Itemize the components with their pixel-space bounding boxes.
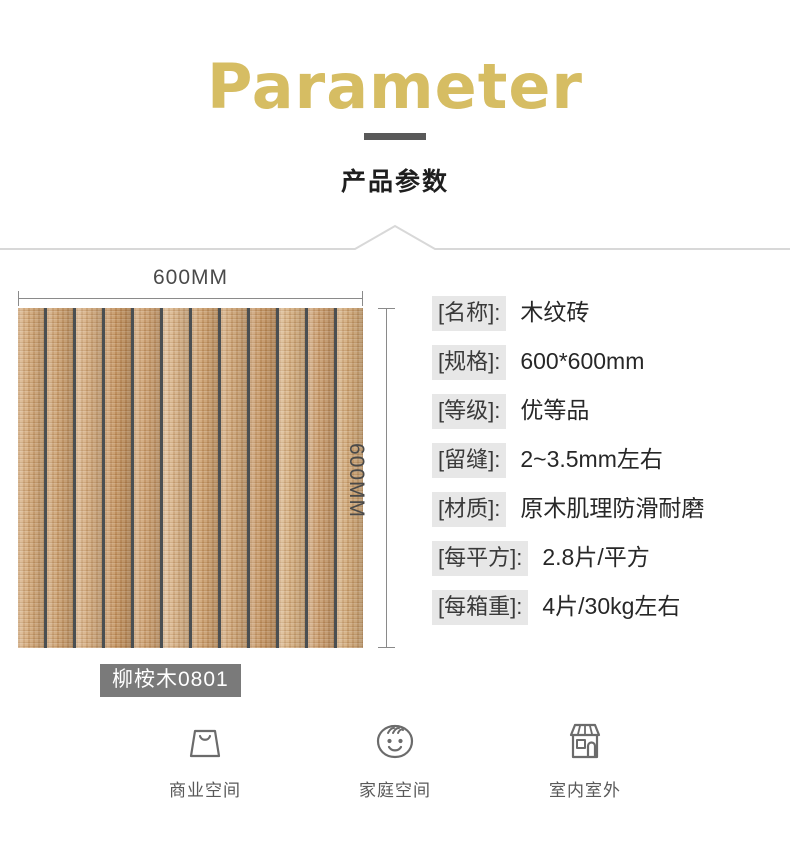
page-subtitle: 产品参数: [0, 170, 790, 195]
child-face-icon: [369, 716, 421, 766]
section-chevron-divider: [0, 222, 790, 258]
spec-label: [每箱重]:: [432, 590, 528, 625]
usage-item: 室内室外: [533, 716, 638, 801]
spec-value: 2~3.5mm左右: [520, 444, 663, 475]
spec-row: [每箱重]:4片/30kg左右: [432, 590, 782, 639]
spec-label: [名称]:: [432, 296, 506, 331]
tile-width-dimension-label: 600MM: [18, 266, 363, 290]
tile-plank: [221, 308, 250, 648]
storefront-icon: [559, 716, 611, 766]
tile-plank: [250, 308, 279, 648]
usage-label: 家庭空间: [359, 776, 431, 801]
tile-plank: [105, 308, 134, 648]
tile-plank: [192, 308, 221, 648]
spec-label: [规格]:: [432, 345, 506, 380]
spec-value: 优等品: [520, 395, 589, 426]
tile-plank: [163, 308, 192, 648]
product-tile-image: [18, 308, 363, 648]
tile-height-dimension-line: [386, 308, 387, 648]
tile-plank: [134, 308, 163, 648]
tile-plank: [47, 308, 76, 648]
spec-label: [材质]:: [432, 492, 506, 527]
product-image-block: 600MM 600MM 柳桉木0801: [0, 258, 410, 698]
spec-row: [名称]:木纹砖: [432, 296, 782, 345]
spec-label: [留缝]:: [432, 443, 506, 478]
spec-row: [材质]:原木肌理防滑耐磨: [432, 492, 782, 541]
spec-row: [留缝]:2~3.5mm左右: [432, 443, 782, 492]
spec-row: [每平方]:2.8片/平方: [432, 541, 782, 590]
page-title: Parameter: [0, 56, 790, 118]
usage-item: 家庭空间: [343, 716, 448, 801]
spec-value: 2.8片/平方: [542, 542, 649, 573]
spec-value: 4片/30kg左右: [542, 591, 680, 622]
spec-row: [等级]:优等品: [432, 394, 782, 443]
usage-label: 商业空间: [169, 776, 241, 801]
tile-plank: [308, 308, 337, 648]
tile-plank: [76, 308, 105, 648]
spec-row: [规格]:600*600mm: [432, 345, 782, 394]
shopping-bag-icon: [179, 716, 231, 766]
spec-value: 木纹砖: [520, 297, 589, 328]
product-model-badge: 柳桉木0801: [100, 664, 241, 697]
title-divider-bar: [364, 133, 426, 140]
usage-scenarios: 商业空间家庭空间室内室外: [0, 716, 790, 801]
page-header: Parameter 产品参数: [0, 0, 790, 232]
specification-list: [名称]:木纹砖[规格]:600*600mm[等级]:优等品[留缝]:2~3.5…: [432, 296, 782, 639]
usage-item: 商业空间: [153, 716, 258, 801]
tile-plank: [18, 308, 47, 648]
spec-label: [等级]:: [432, 394, 506, 429]
spec-value: 600*600mm: [520, 346, 644, 377]
tile-plank: [279, 308, 308, 648]
tile-width-dimension-line: [18, 298, 363, 299]
spec-label: [每平方]:: [432, 541, 528, 576]
tile-height-dimension-label: 600MM: [344, 443, 368, 518]
usage-label: 室内室外: [549, 776, 621, 801]
spec-value: 原木肌理防滑耐磨: [520, 493, 704, 524]
